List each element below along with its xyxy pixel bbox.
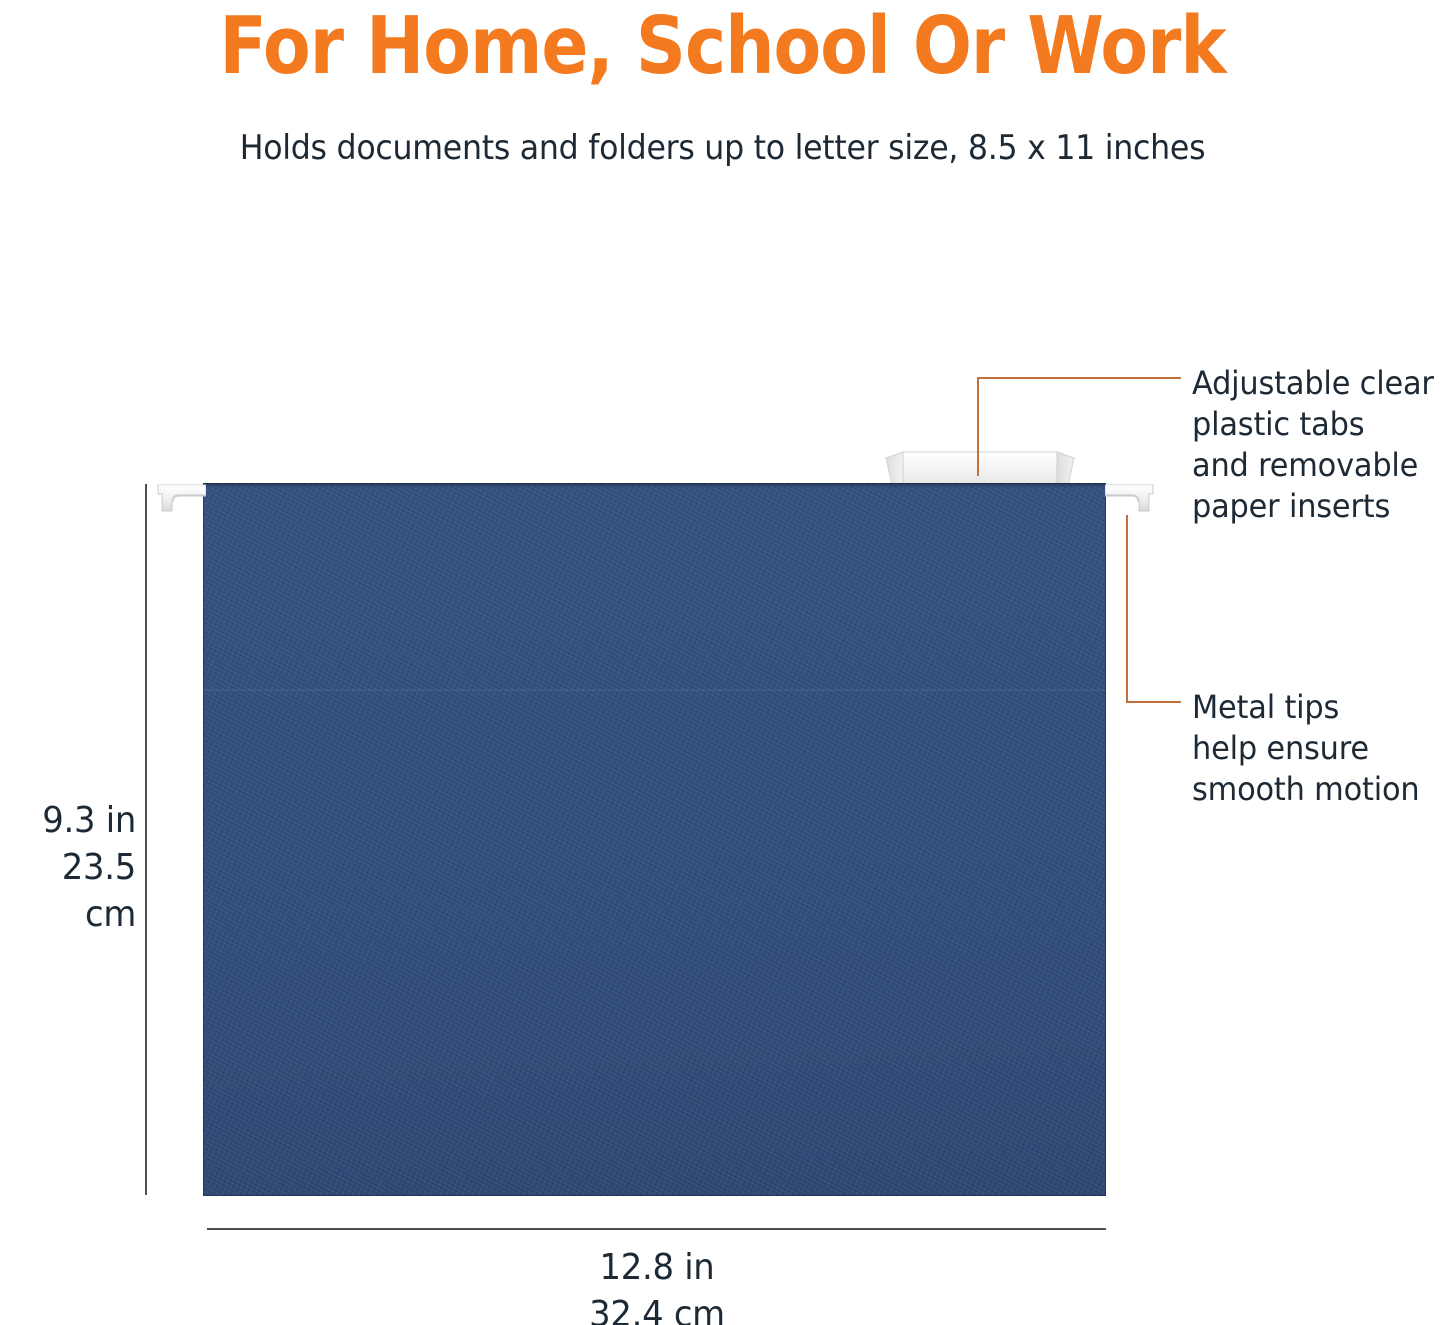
- leader-line-tips-vertical: [1126, 515, 1128, 703]
- height-dimension-label: 9.3 in 23.5 cm: [8, 797, 136, 938]
- width-dimension-label: 12.8 in 32.4 cm: [488, 1244, 826, 1325]
- callout-metal-tips: Metal tips help ensure smooth motion: [1192, 687, 1444, 810]
- metal-tip-hook-left: [156, 482, 206, 514]
- width-dimension-line: [207, 1228, 1106, 1230]
- leader-line-tabs-vertical: [977, 378, 979, 476]
- metal-tip-hook-right: [1105, 482, 1155, 514]
- folder-crease: [203, 689, 1106, 691]
- metal-tip-hook-right-shape: [1105, 482, 1155, 514]
- leader-line-tabs-horizontal: [977, 377, 1181, 379]
- page-subtitle: Holds documents and folders up to letter…: [51, 126, 1395, 170]
- callout-adjustable-tabs: Adjustable clear plastic tabs and remova…: [1192, 363, 1444, 527]
- product-infographic: For Home, School Or Work Holds documents…: [0, 0, 1445, 1325]
- folder-body: [203, 483, 1106, 1196]
- leader-line-tips-horizontal: [1126, 701, 1181, 703]
- metal-tip-hook-left-shape: [156, 482, 206, 514]
- page-title: For Home, School Or Work: [87, 2, 1359, 90]
- height-dimension-line: [145, 484, 147, 1195]
